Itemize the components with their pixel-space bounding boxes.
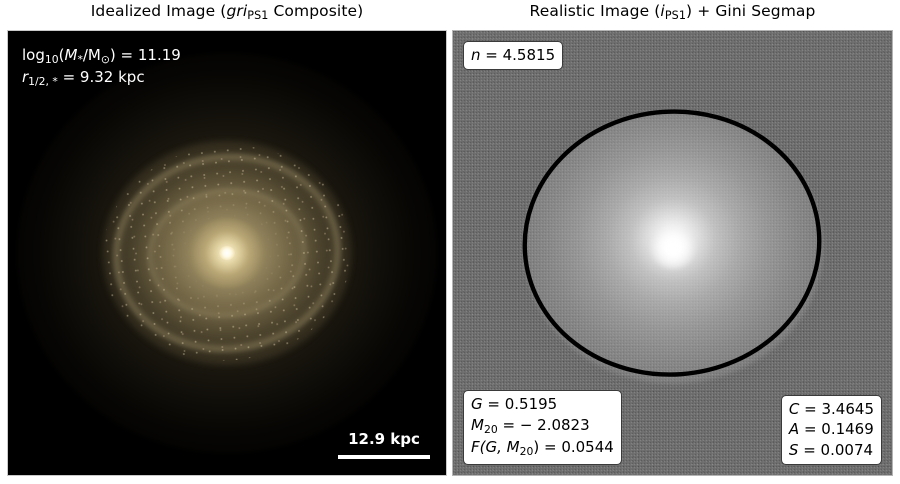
sersic-symbol: n [471,46,481,64]
sersic-value: 4.5815 [503,46,556,64]
title-left-band-subscript: PS1 [247,9,268,22]
m20-row: M20 = − 2.0823 [471,415,614,438]
smoothness-equals: = [798,441,820,459]
galaxy-core-nucleus [219,246,235,260]
radius-unit: kpc [118,68,144,86]
concentration-equals: = [799,400,821,418]
mass-value: 11.19 [138,46,181,64]
title-right-band-subscript: PS1 [665,9,686,22]
galaxy-idealized-composite [12,38,442,468]
scalebar: 12.9 kpc [338,430,430,459]
scalebar-line [338,455,430,459]
sersic-equals: = [481,46,503,64]
sersic-row: n = 4.5815 [471,45,555,65]
smoothness-row: S = 0.0074 [789,440,874,460]
title-right-suffix: ) + Gini Segmap [686,2,815,20]
log-base-subscript: 10 [45,53,59,66]
asymmetry-value: 0.1469 [821,420,874,438]
gini-m20-statistics-box: G = 0.5195 M20 = − 2.0823 F(G, M20) = 0.… [463,390,622,465]
panel-title-idealized: Idealized Image (griPS1 Composite) [7,2,447,22]
asymmetry-row: A = 0.1469 [789,419,874,439]
panel-realistic-image: n = 4.5815 G = 0.5195 M20 = − 2.0823 F(G… [452,30,893,476]
gini-equals: = [483,395,505,413]
concentration-symbol: C [789,400,799,418]
cas-statistics-box: C = 3.4645 A = 0.1469 S = 0.0074 [781,395,882,465]
sersic-index-box: n = 4.5815 [463,41,563,70]
title-left-prefix: Idealized Image ( [91,2,227,20]
title-right-prefix: Realistic Image ( [530,2,661,20]
concentration-value: 3.4645 [822,400,875,418]
title-left-suffix: Composite) [268,2,363,20]
m20-symbol: M [471,416,484,434]
m20-value: − 2.0823 [520,416,590,434]
mass-equals: = [116,46,138,64]
msun-subscript: ⊙ [101,53,110,66]
radius-value: 9.32 [80,68,113,86]
radius-subscript: 1/2, * [28,75,58,88]
concentration-row: C = 3.4645 [789,399,874,419]
merger-statistic-row: F(G, M20) = 0.0544 [471,437,614,460]
gini-symbol: G [471,395,483,413]
merger-statistic-subscript: 20 [520,445,534,458]
merger-statistic-symbol: F(G, M [471,438,520,456]
panel-idealized-image: log10(M*/M⊙) = 11.19 r1/2, * = 9.32 kpc … [7,30,447,476]
mass-slash-msun: /M [83,46,101,64]
panel-title-realistic: Realistic Image (iPS1) + Gini Segmap [452,2,893,22]
scalebar-label: 12.9 kpc [338,430,430,448]
log-label: log [22,46,45,64]
radius-equals: = [58,68,80,86]
figure-root: Idealized Image (griPS1 Composite) Reali… [0,0,900,484]
merger-statistic-value: 0.0544 [561,438,614,456]
smoothness-symbol: S [789,441,799,459]
stellar-mass-annotation: log10(M*/M⊙) = 11.19 [22,45,181,67]
half-mass-radius-annotation: r1/2, * = 9.32 kpc [22,67,181,89]
merger-statistic-equals: ) = [533,438,561,456]
idealized-annotations: log10(M*/M⊙) = 11.19 r1/2, * = 9.32 kpc [22,45,181,90]
gini-value: 0.5195 [505,395,558,413]
segmap-ellipse [516,102,828,385]
asymmetry-symbol: A [789,420,799,438]
m20-equals: = [498,416,520,434]
gini-row: G = 0.5195 [471,394,614,414]
title-left-band: gri [226,2,247,20]
mass-symbol: M [64,46,77,64]
m20-subscript: 20 [484,423,498,436]
asymmetry-equals: = [799,420,821,438]
smoothness-value: 0.0074 [821,441,874,459]
